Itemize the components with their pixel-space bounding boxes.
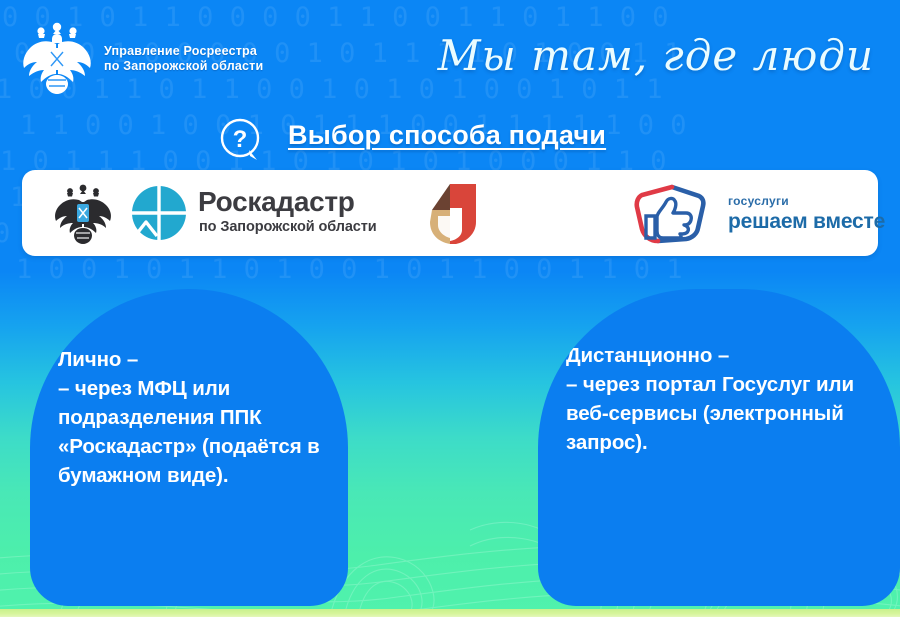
gosuslugi-label-main: решаем вместе [728,210,885,234]
option-card-remote: Дистанционно – – через портал Госуслуг и… [538,289,900,606]
question-mark-speech-bubble-icon: ? [216,117,268,163]
slide-root: 0 0 1 0 1 1 0 0 0 0 1 1 0 0 1 1 0 1 1 0 … [0,0,900,617]
slide-header: Управление Росреестра по Запорожской обл… [0,0,900,110]
gosuslugi-label-small: госуслуги [728,194,789,208]
option-card-in-person: Лично – – через МФЦ или подразделения ПП… [30,289,348,606]
page-title: Выбор способа подачи [288,120,606,151]
org-line-1: Управление Росреестра [104,44,263,59]
slogan-text: Мы там, где люди [438,30,874,82]
bottom-accent-strip [0,609,900,617]
mfc-shield-logo [416,182,480,246]
roskadastr-circle-house-logo [130,184,188,242]
gosuslugi-thumbs-up-hexagon-icon [632,184,710,244]
option-remote-text: Дистанционно – – через портал Госуслуг и… [566,341,888,457]
roskadastr-region-label: по Запорожской области [199,219,377,235]
partner-logo-bar: Роскадастр по Запорожской области госусл… [22,170,878,256]
organization-name: Управление Росреестра по Запорожской обл… [104,44,263,74]
option-in-person-text: Лично – – через МФЦ или подразделения ПП… [58,345,336,490]
roskadastr-wordmark: Роскадастр [198,187,355,217]
russian-double-headed-eagle-emblem [18,20,96,94]
rosreestr-eagle-emblem-dark [52,182,114,244]
svg-text:?: ? [233,126,248,153]
title-row: ? Выбор способа подачи [0,116,900,162]
org-line-2: по Запорожской области [104,59,263,74]
